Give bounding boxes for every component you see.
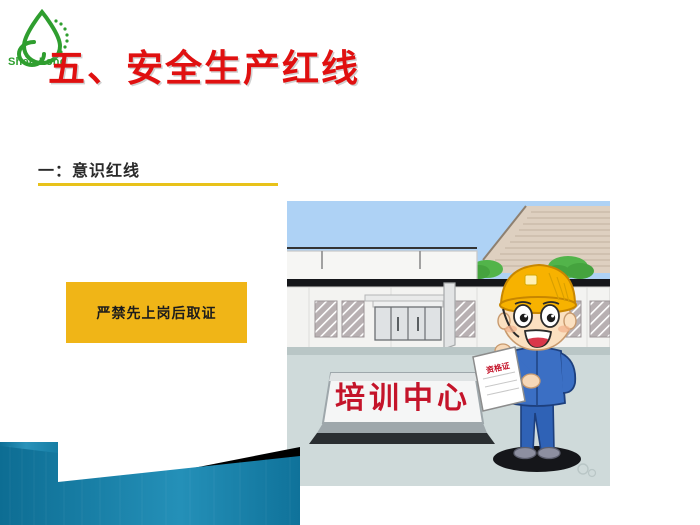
section-subtitle: 一：意识红线: [38, 157, 140, 181]
certificate: [473, 347, 525, 411]
corner-graphic-svg: [0, 420, 300, 525]
subtitle-underline: [38, 183, 278, 186]
callout-text: 严禁先上岗后取证: [97, 303, 217, 323]
sign-base: [309, 433, 495, 444]
sign-text: 培训中心: [335, 381, 471, 416]
page-title: 五、安全生产红线: [48, 38, 360, 92]
callout-box: 严禁先上岗后取证: [66, 282, 247, 343]
illustration-svg: 培训中心: [287, 201, 610, 486]
bottom-left-corner-graphic: [0, 420, 300, 525]
slide-canvas: Shen Long 五、安全生产红线 一：意识红线 严禁先上岗后取证: [0, 0, 700, 525]
training-center-illustration: 培训中心: [287, 201, 610, 486]
